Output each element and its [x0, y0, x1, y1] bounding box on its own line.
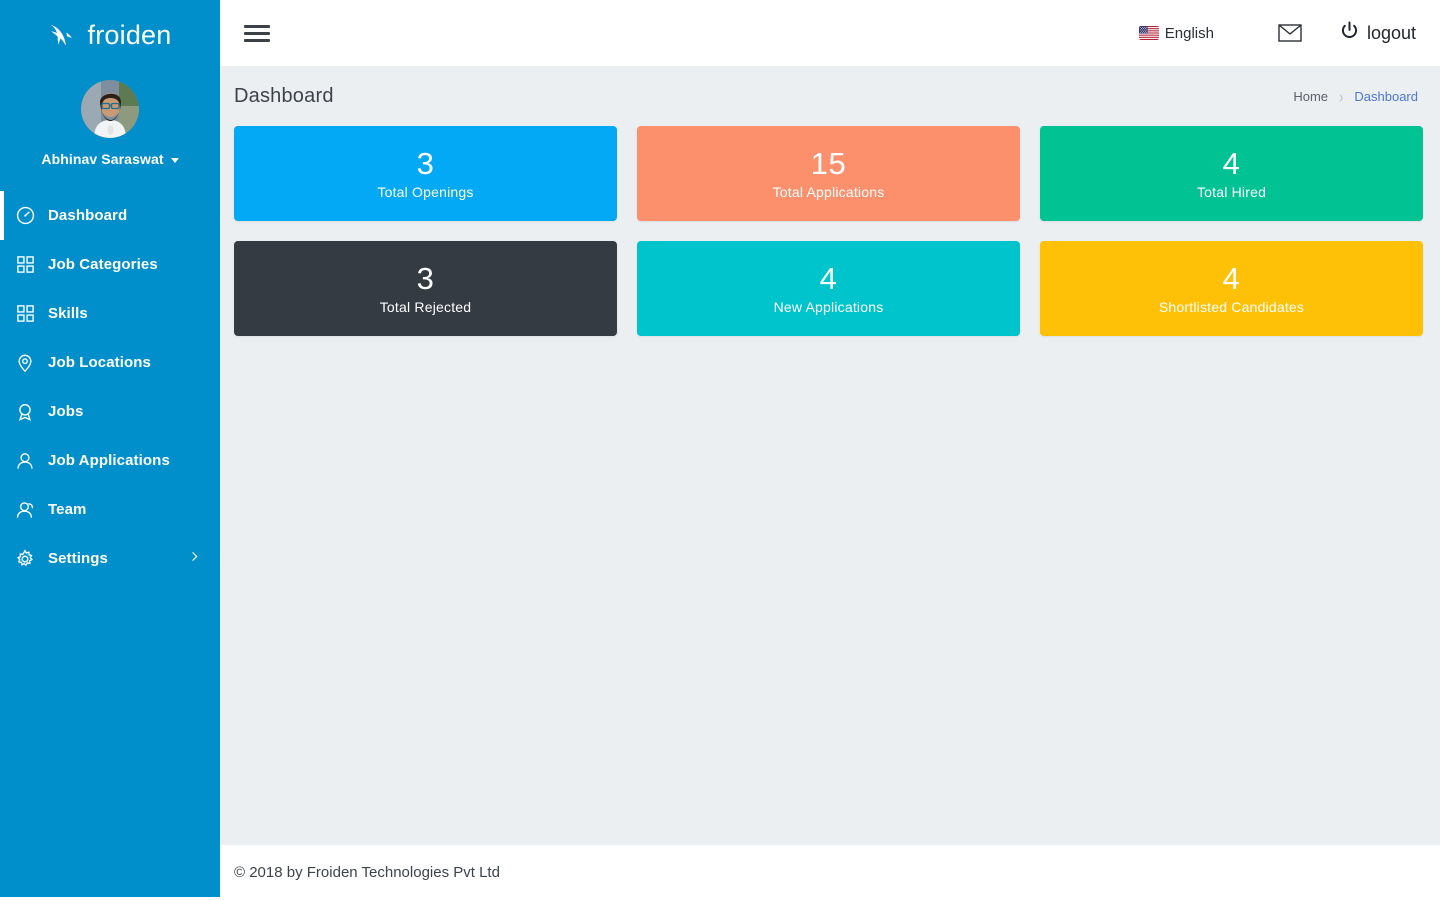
dashboard-page: froiden: [0, 0, 1440, 900]
stat-label: Total Rejected: [380, 299, 472, 315]
page-footer: © 2018 by Froiden Technologies Pvt Ltd: [220, 845, 1440, 900]
stat-card-total-rejected[interactable]: 3 Total Rejected: [234, 241, 617, 336]
user-profile[interactable]: Abhinav Saraswat: [0, 66, 220, 177]
us-flag-icon: [1139, 26, 1159, 40]
sidebar-item-label: Job Locations: [48, 354, 151, 371]
sidebar-nav: Dashboard Job Categories: [0, 191, 220, 583]
sidebar-item-label: Skills: [48, 305, 88, 322]
stat-label: Total Openings: [377, 184, 473, 200]
language-label: English: [1165, 25, 1214, 42]
copyright-text: © 2018 by Froiden Technologies Pvt Ltd: [234, 864, 500, 881]
top-header: English logout: [220, 0, 1440, 66]
page-header: Dashboard Home › Dashboard: [220, 66, 1440, 126]
sidebar-item-skills[interactable]: Skills: [0, 289, 220, 338]
power-icon: [1340, 21, 1359, 45]
user-group-icon: [14, 499, 36, 521]
chevron-right-icon: [190, 550, 200, 568]
grid-squares-icon: [14, 254, 36, 276]
sidebar-item-team[interactable]: Team: [0, 485, 220, 534]
gear-icon: [14, 548, 36, 570]
stat-value: 3: [417, 263, 435, 294]
hamburger-icon[interactable]: [244, 21, 270, 46]
logout-label: logout: [1367, 23, 1416, 44]
header-actions: English logout: [1139, 21, 1440, 45]
main-content: Dashboard Home › Dashboard 3 Total Openi…: [220, 66, 1440, 845]
stat-card-new-applications[interactable]: 4 New Applications: [637, 241, 1020, 336]
speedometer-icon: [14, 205, 36, 227]
stat-value: 3: [417, 148, 435, 179]
breadcrumb-current: Dashboard: [1354, 89, 1418, 104]
breadcrumb-home[interactable]: Home: [1293, 89, 1328, 104]
envelope-icon[interactable]: [1278, 24, 1302, 42]
user-icon: [14, 450, 36, 472]
stat-label: Total Hired: [1197, 184, 1266, 200]
stat-label: Shortlisted Candidates: [1159, 299, 1304, 315]
sidebar-item-label: Dashboard: [48, 207, 127, 224]
stat-label: Total Applications: [773, 184, 885, 200]
sidebar-item-label: Job Applications: [48, 452, 170, 469]
sidebar-item-job-applications[interactable]: Job Applications: [0, 436, 220, 485]
avatar: [81, 80, 139, 138]
sidebar-item-job-locations[interactable]: Job Locations: [0, 338, 220, 387]
brand-name: froiden: [88, 22, 172, 49]
sidebar-item-label: Team: [48, 501, 86, 518]
grid-squares-icon: [14, 303, 36, 325]
stat-value: 4: [1223, 148, 1241, 179]
breadcrumb-separator-icon: ›: [1339, 86, 1343, 106]
user-name: Abhinav Saraswat: [41, 151, 163, 167]
user-name-row[interactable]: Abhinav Saraswat: [0, 151, 220, 167]
sidebar-item-jobs[interactable]: Jobs: [0, 387, 220, 436]
brand-logo[interactable]: froiden: [0, 0, 220, 66]
sidebar-item-label: Jobs: [48, 403, 83, 420]
sidebar-item-job-categories[interactable]: Job Categories: [0, 240, 220, 289]
stat-value: 15: [811, 148, 846, 179]
page-title: Dashboard: [234, 85, 334, 108]
award-badge-icon: [14, 401, 36, 423]
stat-value: 4: [820, 263, 838, 294]
breadcrumb: Home › Dashboard: [1293, 89, 1418, 104]
stat-label: New Applications: [774, 299, 884, 315]
chevron-down-icon: [171, 158, 179, 163]
stat-card-shortlisted-candidates[interactable]: 4 Shortlisted Candidates: [1040, 241, 1423, 336]
logout-button[interactable]: logout: [1340, 21, 1416, 45]
stat-card-total-hired[interactable]: 4 Total Hired: [1040, 126, 1423, 221]
map-pin-icon: [14, 352, 36, 374]
stat-card-total-openings[interactable]: 3 Total Openings: [234, 126, 617, 221]
sidebar-item-label: Settings: [48, 550, 108, 567]
stat-card-total-applications[interactable]: 15 Total Applications: [637, 126, 1020, 221]
bird-logo-icon: [49, 22, 79, 48]
stat-value: 4: [1223, 263, 1241, 294]
language-selector[interactable]: English: [1139, 25, 1214, 42]
sidebar: froiden: [0, 0, 220, 897]
sidebar-item-dashboard[interactable]: Dashboard: [0, 191, 220, 240]
sidebar-item-label: Job Categories: [48, 256, 158, 273]
stat-cards: 3 Total Openings 15 Total Applications 4…: [220, 126, 1440, 336]
sidebar-item-settings[interactable]: Settings: [0, 534, 220, 583]
